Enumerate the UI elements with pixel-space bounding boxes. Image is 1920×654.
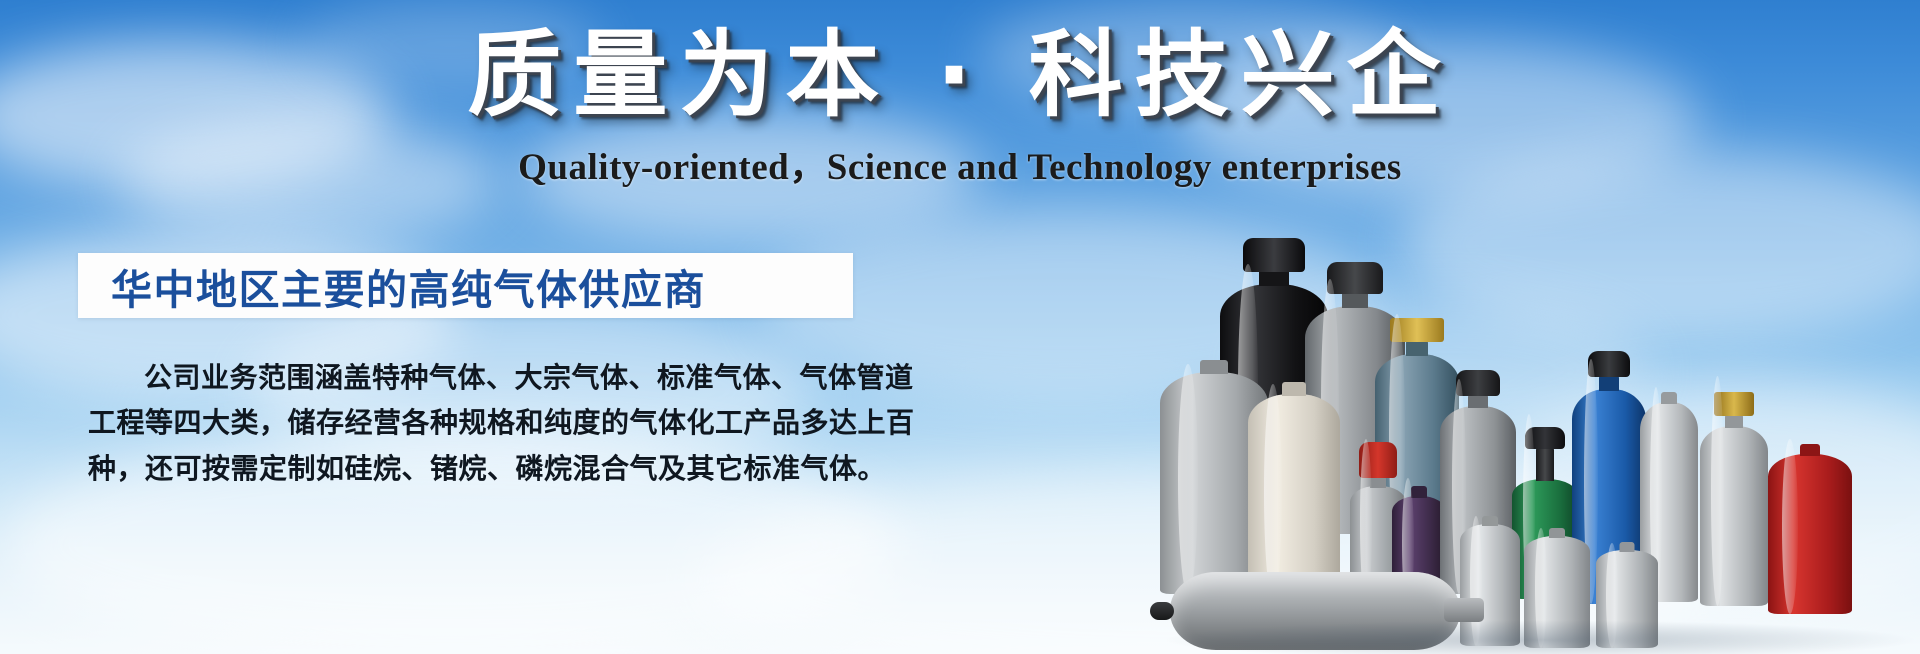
- paragraph-line: 工程等四大类，储存经营各种规格和纯度的气体化工产品多达上百: [88, 400, 878, 445]
- cylinder-white-cream: [1248, 384, 1340, 599]
- cylinder-red: [1768, 439, 1852, 614]
- tagline-text: 华中地区主要的高纯气体供应商: [78, 256, 706, 316]
- description-paragraph: 公司业务范围涵盖特种气体、大宗气体、标准气体、气体管道 工程等四大类，储存经营各…: [88, 355, 878, 491]
- marketing-banner: 质量为本 · 科技兴企 Quality-oriented，Science and…: [0, 0, 1920, 654]
- page-title: 质量为本 · 科技兴企: [0, 22, 1920, 130]
- tagline-box: 华中地区主要的高纯气体供应商: [78, 253, 853, 318]
- cylinder-aluminium-valve: [1700, 376, 1768, 606]
- gas-cylinders-photo: [1160, 134, 1920, 654]
- floor-shadow: [1160, 620, 1920, 654]
- subtitle: Quality-oriented，Science and Technology …: [0, 136, 1920, 190]
- paragraph-line: 种，还可按需定制如硅烷、锗烷、磷烷混合气及其它标准气体。: [88, 446, 878, 491]
- paragraph-line: 公司业务范围涵盖特种气体、大宗气体、标准气体、气体管道: [88, 355, 878, 400]
